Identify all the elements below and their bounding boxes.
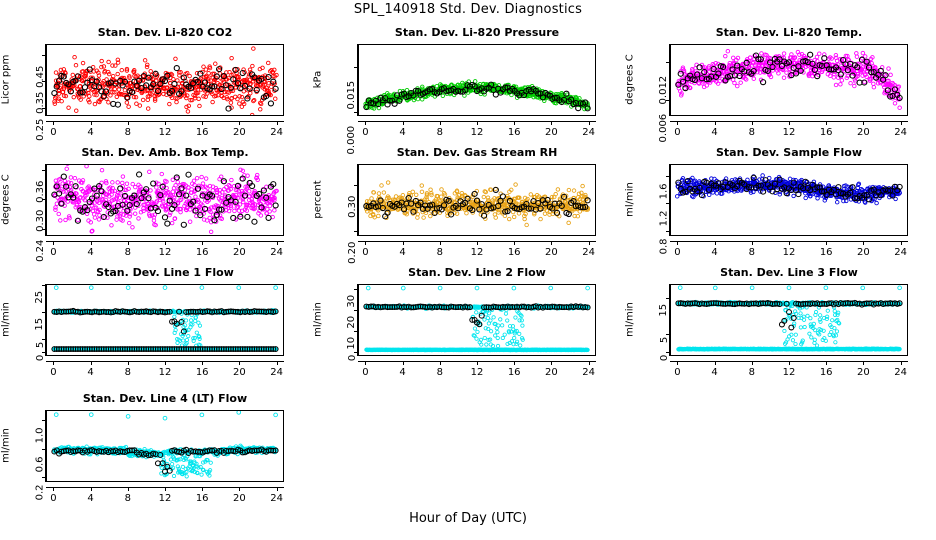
x-axis-tick-label: 0 (50, 493, 56, 504)
y-axis-tick-label: 0.8 (659, 238, 670, 254)
x-axis-tick-label: 8 (125, 493, 131, 504)
x-axis-tick-label: 20 (545, 127, 558, 138)
y-axis-label: ml/min (625, 170, 636, 230)
panel-title: Stan. Dev. Li-820 CO2 (6, 26, 324, 39)
y-axis-tick-label: 1.2 (659, 211, 670, 227)
x-axis-tick-label: 16 (196, 493, 209, 504)
x-axis-tick (91, 487, 92, 491)
x-axis-tick (826, 361, 827, 365)
x-axis-tick-label: 0 (50, 127, 56, 138)
x-axis-tick-label: 0 (362, 247, 368, 258)
y-axis-spine (669, 284, 670, 356)
panel-title: Stan. Dev. Line 4 (LT) Flow (6, 392, 324, 405)
y-axis-tick-label: 0.2 (35, 484, 46, 500)
x-axis-tick-label: 24 (270, 493, 283, 504)
x-axis-tick (128, 361, 129, 365)
x-axis-tick-label: 4 (399, 367, 405, 378)
x-axis-tick (789, 361, 790, 365)
y-axis-tick (42, 352, 46, 353)
x-axis-tick-label: 0 (50, 247, 56, 258)
x-axis-tick-label: 16 (820, 247, 833, 258)
panel-title: Stan. Dev. Gas Stream RH (318, 146, 636, 159)
plot-area (670, 284, 908, 356)
y-axis: 0.0060.012 (644, 44, 670, 116)
x-axis-tick-label: 16 (820, 127, 833, 138)
x-axis-tick (239, 487, 240, 491)
x-axis-tick-label: 24 (582, 367, 595, 378)
x-axis-tick (789, 121, 790, 125)
y-axis-tick-label: 0.24 (35, 239, 46, 261)
y-axis-tick-label: 30 (347, 295, 358, 308)
panel-6: Stan. Dev. Sample Flow0.81.21.6ml/min048… (624, 146, 936, 266)
x-axis-tick-label: 0 (50, 367, 56, 378)
y-axis-label: degrees C (1, 170, 12, 230)
x-axis-tick (202, 487, 203, 491)
y-axis-tick (354, 67, 358, 68)
y-axis-tick (666, 176, 670, 177)
x-axis-tick-label: 4 (87, 493, 93, 504)
panel-title: Stan. Dev. Li-820 Temp. (630, 26, 936, 39)
x-axis-tick (91, 121, 92, 125)
x-axis-tick (91, 241, 92, 245)
x-axis-tick (589, 241, 590, 245)
y-axis-tick (354, 231, 358, 232)
x-axis-tick (715, 241, 716, 245)
x-axis-tick (477, 241, 478, 245)
panel-title: Stan. Dev. Line 3 Flow (630, 266, 936, 279)
x-axis-tick-label: 12 (783, 247, 796, 258)
x-axis-tick-label: 4 (711, 127, 717, 138)
y-axis-tick-label: 0.6 (35, 456, 46, 472)
x-axis: 04812162024 (358, 241, 596, 261)
y-axis-tick (42, 477, 46, 478)
y-axis-tick (42, 170, 46, 171)
data-points-layer (47, 45, 283, 115)
x-axis-tick (789, 241, 790, 245)
plot-area (670, 164, 908, 236)
panel-title: Stan. Dev. Sample Flow (630, 146, 936, 159)
x-axis-tick (277, 121, 278, 125)
y-axis-label: kPa (313, 50, 324, 110)
y-axis-tick (42, 420, 46, 421)
data-points-layer (671, 45, 907, 115)
y-axis-tick (666, 203, 670, 204)
y-axis: 0.0000.015 (332, 44, 358, 116)
x-axis-tick (901, 361, 902, 365)
x-axis-tick-label: 16 (196, 127, 209, 138)
y-axis-label: ml/min (1, 290, 12, 350)
y-axis-tick-label: 15 (659, 304, 670, 317)
x-axis-tick (863, 361, 864, 365)
y-axis-tick-label: 0.012 (659, 76, 670, 105)
y-axis-tick (354, 289, 358, 290)
x-axis-tick (752, 121, 753, 125)
x-axis-tick-label: 4 (87, 367, 93, 378)
y-axis: 0515 (644, 284, 670, 356)
x-axis: 04812162024 (670, 241, 908, 261)
plot-area (46, 164, 284, 236)
data-points-layer (359, 45, 595, 115)
x-axis-tick (165, 487, 166, 491)
x-axis-tick (440, 241, 441, 245)
x-axis: 04812162024 (46, 361, 284, 381)
x-axis-tick-label: 12 (159, 367, 172, 378)
x-axis-tick (677, 241, 678, 245)
x-axis-tick (403, 121, 404, 125)
y-axis-tick-label: 5 (659, 337, 670, 343)
x-axis-tick (677, 361, 678, 365)
x-axis-tick-label: 12 (159, 493, 172, 504)
panel-7: Stan. Dev. Line 1 Flow051525ml/min048121… (0, 266, 312, 386)
y-axis-tick-label: 1.0 (35, 427, 46, 443)
panel-title: Stan. Dev. Line 2 Flow (318, 266, 636, 279)
y-axis-tick-label: 0 (659, 355, 670, 361)
x-axis-tick (901, 121, 902, 125)
figure-root: SPL_140918 Std. Dev. Diagnostics Stan. D… (0, 0, 936, 540)
x-axis-tick (239, 121, 240, 125)
x-axis-tick-label: 0 (674, 367, 680, 378)
x-axis-tick-label: 20 (857, 247, 870, 258)
y-axis-label: ml/min (1, 416, 12, 476)
y-axis: 0.250.350.45 (20, 44, 46, 116)
x-axis-tick-label: 20 (233, 367, 246, 378)
x-axis-tick (277, 487, 278, 491)
y-axis-tick-label: 15 (35, 318, 46, 331)
x-axis-tick (514, 361, 515, 365)
x-axis-tick (202, 241, 203, 245)
x-axis-tick-label: 16 (508, 247, 521, 258)
x-axis-tick (514, 121, 515, 125)
x-axis-tick-label: 24 (894, 247, 907, 258)
x-axis-tick-label: 8 (125, 247, 131, 258)
x-axis-tick (239, 361, 240, 365)
x-axis-tick-label: 16 (196, 367, 209, 378)
x-axis-tick-label: 20 (233, 127, 246, 138)
x-axis-tick (128, 121, 129, 125)
x-axis-tick (202, 361, 203, 365)
x-axis-tick-label: 12 (783, 367, 796, 378)
plot-area (358, 164, 596, 236)
y-axis-tick (42, 55, 46, 56)
x-axis-tick-label: 24 (582, 127, 595, 138)
x-axis-tick-label: 4 (711, 247, 717, 258)
x-axis-tick (365, 121, 366, 125)
y-axis-tick-label: 0.30 (347, 195, 358, 217)
x-axis-tick-label: 24 (270, 367, 283, 378)
x-axis-tick-label: 0 (362, 367, 368, 378)
x-axis-tick-label: 8 (749, 247, 755, 258)
x-axis-tick (239, 241, 240, 245)
y-axis-tick-label: 0.015 (347, 80, 358, 109)
x-axis-tick-label: 20 (233, 493, 246, 504)
panel-8: Stan. Dev. Line 2 Flow0102030ml/min04812… (312, 266, 624, 386)
x-axis-tick (589, 121, 590, 125)
x-axis-tick-label: 20 (857, 127, 870, 138)
x-axis-tick-label: 0 (362, 127, 368, 138)
x-axis-tick (477, 361, 478, 365)
x-axis-tick-label: 12 (783, 127, 796, 138)
y-axis-tick (42, 339, 46, 340)
x-axis-tick (440, 361, 441, 365)
x-axis-tick-label: 8 (437, 367, 443, 378)
plot-area (46, 410, 284, 482)
x-axis-tick-label: 16 (508, 127, 521, 138)
x-axis-tick-label: 4 (399, 247, 405, 258)
y-axis-tick (42, 449, 46, 450)
y-axis-tick-label: 5 (35, 341, 46, 347)
y-axis-tick (42, 312, 46, 313)
y-axis-tick (354, 352, 358, 353)
x-axis-tick-label: 20 (233, 247, 246, 258)
figure-x-axis-label: Hour of Day (UTC) (0, 511, 936, 526)
x-axis-tick (91, 361, 92, 365)
panel-title: Stan. Dev. Amb. Box Temp. (6, 146, 324, 159)
plot-area (358, 44, 596, 116)
data-points-layer (671, 165, 907, 235)
x-axis-tick (365, 361, 366, 365)
y-axis-tick-label: 0.25 (35, 119, 46, 141)
x-axis-tick-label: 20 (545, 367, 558, 378)
x-axis-tick-label: 8 (125, 367, 131, 378)
y-axis-tick-label: 0.36 (35, 181, 46, 203)
x-axis-tick-label: 8 (437, 247, 443, 258)
x-axis-tick-label: 12 (471, 127, 484, 138)
x-axis: 04812162024 (46, 487, 284, 507)
x-axis-tick (677, 121, 678, 125)
x-axis-tick (53, 241, 54, 245)
y-axis-tick-label: 25 (35, 291, 46, 304)
figure-title: SPL_140918 Std. Dev. Diagnostics (0, 2, 936, 17)
y-axis: 0.200.30 (332, 164, 358, 236)
x-axis-tick (477, 121, 478, 125)
x-axis-tick-label: 8 (437, 127, 443, 138)
x-axis: 04812162024 (358, 361, 596, 381)
x-axis-tick (165, 121, 166, 125)
y-axis-tick (354, 185, 358, 186)
y-axis-tick-label: 1.6 (659, 184, 670, 200)
x-axis-tick-label: 24 (894, 367, 907, 378)
panel-10: Stan. Dev. Line 4 (LT) Flow0.20.61.0ml/m… (0, 392, 312, 512)
x-axis-tick-label: 12 (159, 127, 172, 138)
y-axis-tick (666, 62, 670, 63)
x-axis: 04812162024 (670, 361, 908, 381)
x-axis-tick-label: 12 (471, 367, 484, 378)
y-axis-tick-label: 0.35 (35, 92, 46, 114)
x-axis-tick-label: 20 (545, 247, 558, 258)
x-axis-tick-label: 16 (820, 367, 833, 378)
x-axis-tick (826, 241, 827, 245)
y-axis-tick-label: 0.30 (35, 210, 46, 232)
y-axis-label: ml/min (313, 290, 324, 350)
panel-5: Stan. Dev. Gas Stream RH0.200.30percent0… (312, 146, 624, 266)
y-axis-spine (357, 44, 358, 116)
x-axis-tick-label: 16 (508, 367, 521, 378)
y-axis-tick (354, 310, 358, 311)
y-axis-tick-label: 0.20 (347, 241, 358, 263)
x-axis-tick (403, 361, 404, 365)
x-axis-tick (165, 361, 166, 365)
x-axis-tick-label: 8 (749, 127, 755, 138)
x-axis-tick (165, 241, 166, 245)
x-axis: 04812162024 (46, 241, 284, 261)
y-axis: 051525 (20, 284, 46, 356)
x-axis-tick-label: 4 (711, 367, 717, 378)
panel-9: Stan. Dev. Line 3 Flow0515ml/min04812162… (624, 266, 936, 386)
x-axis-tick (901, 241, 902, 245)
panel-2: Stan. Dev. Li-820 Pressure0.0000.015kPa0… (312, 26, 624, 146)
plot-area (46, 284, 284, 356)
y-axis-spine (669, 44, 670, 116)
panel-title: Stan. Dev. Li-820 Pressure (318, 26, 636, 39)
y-axis-tick-label: 0 (347, 355, 358, 361)
y-axis-tick-label: 0 (35, 355, 46, 361)
x-axis-tick (53, 487, 54, 491)
x-axis-tick-label: 4 (87, 127, 93, 138)
x-axis-tick-label: 0 (674, 247, 680, 258)
x-axis-tick (128, 241, 129, 245)
x-axis-tick-label: 4 (399, 127, 405, 138)
x-axis-tick-label: 24 (894, 127, 907, 138)
x-axis: 04812162024 (358, 121, 596, 141)
x-axis-tick (202, 121, 203, 125)
x-axis-tick (551, 241, 552, 245)
y-axis-tick (42, 285, 46, 286)
data-points-layer (47, 165, 283, 235)
x-axis-tick (715, 121, 716, 125)
plot-area (358, 284, 596, 356)
x-axis-tick (715, 361, 716, 365)
y-axis-tick-label: 20 (347, 316, 358, 329)
y-axis: 0.81.21.6 (644, 164, 670, 236)
data-points-layer (359, 285, 595, 355)
y-axis-label: Licor ppm (1, 50, 12, 110)
x-axis-tick-label: 0 (674, 127, 680, 138)
y-axis-tick-label: 0.45 (35, 65, 46, 87)
x-axis-tick-label: 24 (270, 247, 283, 258)
data-points-layer (359, 165, 595, 235)
y-axis: 0102030 (332, 284, 358, 356)
x-axis-tick-label: 8 (749, 367, 755, 378)
y-axis-tick (666, 352, 670, 353)
y-axis-tick (666, 334, 670, 335)
x-axis-tick-label: 20 (857, 367, 870, 378)
panel-title: Stan. Dev. Line 1 Flow (6, 266, 324, 279)
y-axis-tick-label: 10 (347, 337, 358, 350)
panel-4: Stan. Dev. Amb. Box Temp.0.240.300.36deg… (0, 146, 312, 266)
x-axis-tick-label: 16 (196, 247, 209, 258)
x-axis-tick (551, 121, 552, 125)
y-axis-label: ml/min (625, 290, 636, 350)
x-axis-tick (277, 241, 278, 245)
data-points-layer (47, 285, 283, 355)
plot-area (46, 44, 284, 116)
y-axis: 0.240.300.36 (20, 164, 46, 236)
panel-1: Stan. Dev. Li-820 CO20.250.350.45Licor p… (0, 26, 312, 146)
x-axis-tick (128, 487, 129, 491)
x-axis-tick (863, 241, 864, 245)
x-axis-tick-label: 24 (582, 247, 595, 258)
x-axis-tick-label: 4 (87, 247, 93, 258)
x-axis-tick-label: 8 (125, 127, 131, 138)
x-axis-tick-label: 24 (270, 127, 283, 138)
x-axis-tick (365, 241, 366, 245)
data-points-layer (671, 285, 907, 355)
x-axis-tick-label: 12 (159, 247, 172, 258)
y-axis-tick-label: 0.006 (659, 114, 670, 143)
x-axis-tick (403, 241, 404, 245)
y-axis-label: percent (313, 170, 324, 230)
x-axis-tick (440, 121, 441, 125)
panel-3: Stan. Dev. Li-820 Temp.0.0060.012degrees… (624, 26, 936, 146)
x-axis-tick (53, 361, 54, 365)
x-axis-tick (752, 241, 753, 245)
y-axis-tick (666, 298, 670, 299)
x-axis: 04812162024 (670, 121, 908, 141)
y-axis-label: degrees C (625, 50, 636, 110)
plot-area (670, 44, 908, 116)
x-axis-tick (752, 361, 753, 365)
x-axis-tick (589, 361, 590, 365)
x-axis-tick (277, 361, 278, 365)
x-axis-tick-label: 12 (471, 247, 484, 258)
x-axis-tick (514, 241, 515, 245)
x-axis-tick (551, 361, 552, 365)
data-points-layer (47, 411, 283, 481)
x-axis: 04812162024 (46, 121, 284, 141)
x-axis-tick (53, 121, 54, 125)
y-axis-tick (354, 331, 358, 332)
x-axis-tick (826, 121, 827, 125)
x-axis-tick (863, 121, 864, 125)
y-axis-tick (666, 231, 670, 232)
y-axis-tick (354, 112, 358, 113)
y-axis: 0.20.61.0 (20, 410, 46, 482)
